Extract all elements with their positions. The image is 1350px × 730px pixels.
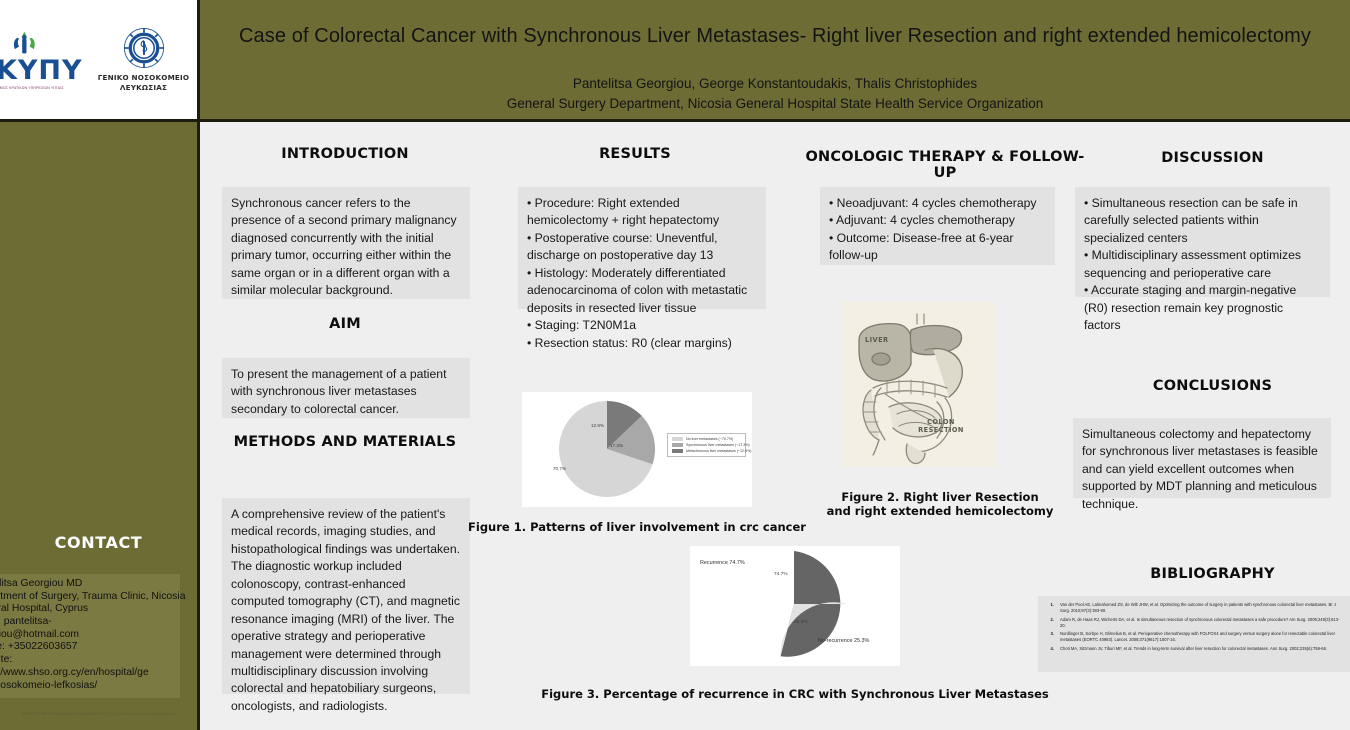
legend-entry: No liver metastases (~70.7%) [672,437,741,441]
bib-reference: Adam R, de Haas RJ, Wicherts DA, et al. … [1060,617,1344,629]
legend-label-metachronous: Metachronous liver metastases (~12.9%) [686,449,751,453]
panel-oncologic: • Neoadjuvant: 4 cycles chemotherapy • A… [820,187,1055,265]
legend-entry: Synchronous liver metastases (~17.3%) [672,443,741,447]
figure-1-label-no-mets: 70.7% [553,466,566,471]
figure-2-colon-label-line2: RESECTION [918,426,964,434]
legend-swatch-metachronous [672,449,683,453]
section-heading-conclusions: CONCLUSIONS [1080,378,1345,394]
panel-conclusions: Simultaneous colectomy and hepatectomy f… [1073,418,1331,498]
contact-heading: CONTACT [0,533,197,552]
legend-entry: Metachronous liver metastases (~12.9%) [672,449,741,453]
left-sidebar: OKYПY ΟΡΓΑΝΙΣΜΟΣ ΚΡΑΤΙΚΩΝ ΥΠΗΡΕΣΙΩΝ ΥΓΕΙ… [0,0,200,730]
legend-label-no-mets: No liver metastases (~70.7%) [686,437,733,441]
bib-number: 3. [1042,631,1054,643]
figure-2-caption: Figure 2. Right liver Resection and righ… [800,490,1080,519]
section-heading-oncologic: ONCOLOGIC THERAPY & FOLLOW-UP [800,149,1090,181]
author-list: Pantelitsa Georgiou, George Konstantouda… [200,74,1350,113]
okypy-emblem-icon [7,30,42,56]
figure-2-liver-label: LIVER [865,336,889,344]
bib-number: 4. [1042,646,1054,652]
figure-1-label-metachronous: 12.9% [591,423,604,428]
okypy-subtitle: ΟΡΓΑΝΙΣΜΟΣ ΚΡΑΤΙΚΩΝ ΥΠΗΡΕΣΙΩΝ ΥΓΕΙΑΣ [0,86,76,90]
contact-line: Website: [0,654,180,667]
hospital-name-line1: ΓΕΝΙΚΟ ΝΟΣΟΚΟΜΕΙΟ [90,73,197,82]
panel-introduction: Synchronous cancer refers to the presenc… [222,187,470,299]
bib-number: 2. [1042,617,1054,629]
page-title: Case of Colorectal Cancer with Synchrono… [200,25,1350,48]
contact-line: Pantelitsa Georgiou MD [0,578,180,591]
contact-line: General Hospital, Cyprus [0,603,180,616]
section-heading-bibliography: BIBLIOGRAPHY [1080,566,1345,582]
template-credit: POSTER TEMPLATE DESIGNED BY GENIGRAPHICS… [14,712,184,717]
bibliography-item: 1. Van der Pool AE, Lalmahomed ZS, de Wi… [1042,602,1344,614]
poster-header: Case of Colorectal Cancer with Synchrono… [200,0,1350,122]
poster-body: INTRODUCTION Synchronous cancer refers t… [200,122,1350,730]
section-heading-results: RESULTS [515,146,755,162]
hospital-logo: ΓΕΝΙΚΟ ΝΟΣΟΚΟΜΕΙΟ ΛΕΥΚΩΣΙΑΣ [90,27,197,92]
panel-results: • Procedure: Right extended hemicolectom… [518,187,766,309]
figure-3-image: 74.7% 25.3% Recurrence 74.7% No-recurren… [690,546,900,666]
contact-details: Pantelitsa Georgiou MD Department of Sur… [0,574,180,698]
authors-affiliation: General Surgery Department, Nicosia Gene… [200,94,1350,114]
logo-band: OKYПY ΟΡΓΑΝΙΣΜΟΣ ΚΡΑΤΙΚΩΝ ΥΠΗΡΕΣΙΩΝ ΥΓΕΙ… [0,0,197,122]
legend-swatch-no-mets [672,437,683,441]
section-heading-aim: AIM [220,316,470,332]
contact-phone: Phone: +35022603657 [0,641,180,654]
panel-methods: A comprehensive review of the patient's … [222,498,470,694]
figure-2-image: LIVER COLON RESECTION [841,302,996,467]
figure-1-image: 12.9% 17.3% 70.7% No liver metastases (~… [522,392,752,507]
hospital-seal-icon [123,27,165,69]
bib-number: 1. [1042,602,1054,614]
figure-3-label-recurrence: 74.7% [774,572,788,577]
bib-reference: Nordlinger B, Sorbye H, Glimelius B, et … [1060,631,1344,643]
okypy-logo: OKYПY ΟΡΓΑΝΙΣΜΟΣ ΚΡΑΤΙΚΩΝ ΥΠΗΡΕΣΙΩΝ ΥΓΕΙ… [0,30,76,90]
section-heading-methods: METHODS AND MATERIALS [220,434,470,450]
bibliography-item: 4. Choti MA, Sitzmann JV, Tiburi MF, et … [1042,646,1344,652]
contact-email[interactable]: georgiou@hotmail.com [0,629,180,642]
figure-1-caption: Figure 1. Patterns of liver involvement … [462,520,812,534]
bibliography-item: 3. Nordlinger B, Sorbye H, Glimelius B, … [1042,631,1344,643]
section-heading-introduction: INTRODUCTION [220,146,470,162]
legend-swatch-synchronous [672,443,683,447]
panel-aim: To present the management of a patient w… [222,358,470,418]
authors-names: Pantelitsa Georgiou, George Konstantouda… [200,74,1350,94]
figure-2-colon-label: COLON RESECTION [917,418,965,434]
panel-discussion: • Simultaneous resection can be safe in … [1075,187,1330,297]
abdominal-anatomy-illustration-icon [841,302,996,467]
figure-2-caption-line2: and right extended hemicolectomy [800,504,1080,518]
bib-reference: Choti MA, Sitzmann JV, Tiburi MF, et al.… [1060,646,1344,652]
hospital-name-line2: ΛΕΥΚΩΣΙΑΣ [90,83,197,92]
okypy-wordmark: OKYПY [0,57,76,84]
figure-3-label-no-recurrence: 25.3% [794,620,808,625]
figure-3-outer-label-no-recurrence: No-recurrence 25.3% [818,638,869,644]
contact-line: Department of Surgery, Trauma Clinic, Ni… [0,591,180,604]
bibliography-item: 2. Adam R, de Haas RJ, Wicherts DA, et a… [1042,617,1344,629]
figure-2-colon-label-line1: COLON [927,418,955,426]
figure-1-legend: No liver metastases (~70.7%) Synchronous… [667,433,746,457]
section-heading-discussion: DISCUSSION [1080,150,1345,166]
contact-website-line2[interactable]: niko-nosokomeio-lefkosias/ [0,680,180,693]
legend-label-synchronous: Synchronous liver metastases (~17.3%) [686,443,750,447]
figure-1-label-synchronous: 17.3% [610,443,623,448]
figure-2-caption-line1: Figure 2. Right liver Resection [800,490,1080,504]
bibliography-list: 1. Van der Pool AE, Lalmahomed ZS, de Wi… [1038,596,1350,672]
contact-line: Email: pantelitsa- [0,616,180,629]
poster-canvas: OKYПY ΟΡΓΑΝΙΣΜΟΣ ΚΡΑΤΙΚΩΝ ΥΠΗΡΕΣΙΩΝ ΥΓΕΙ… [0,0,1350,730]
bib-reference: Van der Pool AE, Lalmahomed ZS, de Wilt … [1060,602,1344,614]
figure-3-caption: Figure 3. Percentage of recurrence in CR… [495,687,1095,701]
figure-3-outer-label-recurrence: Recurrence 74.7% [700,560,745,566]
contact-website-line1[interactable]: https://www.shso.org.cy/en/hospital/ge [0,667,180,680]
